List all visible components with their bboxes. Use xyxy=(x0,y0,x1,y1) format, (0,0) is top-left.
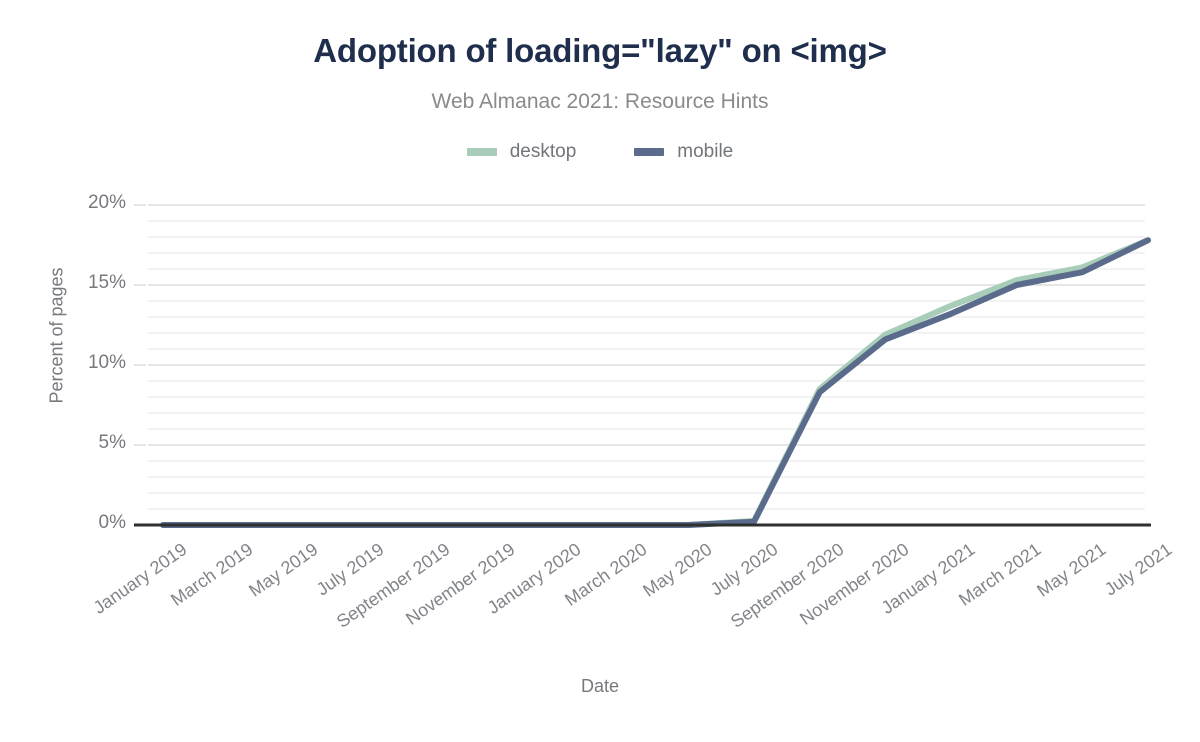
y-tick-label: 20% xyxy=(16,192,126,214)
y-tick-label: 0% xyxy=(16,512,126,534)
plot-area: 0%5%10%15%20% January 2019March 2019May … xyxy=(0,0,1200,742)
x-axis-title: Date xyxy=(0,676,1200,697)
y-tick-label: 5% xyxy=(16,432,126,454)
series-line-desktop xyxy=(163,240,1148,525)
y-tick-label: 10% xyxy=(16,352,126,374)
chart-container: Adoption of loading="lazy" on <img> Web … xyxy=(0,0,1200,742)
series-line-mobile xyxy=(163,240,1148,525)
y-tick-label: 15% xyxy=(16,272,126,294)
y-axis-title: Percent of pages xyxy=(47,236,68,436)
